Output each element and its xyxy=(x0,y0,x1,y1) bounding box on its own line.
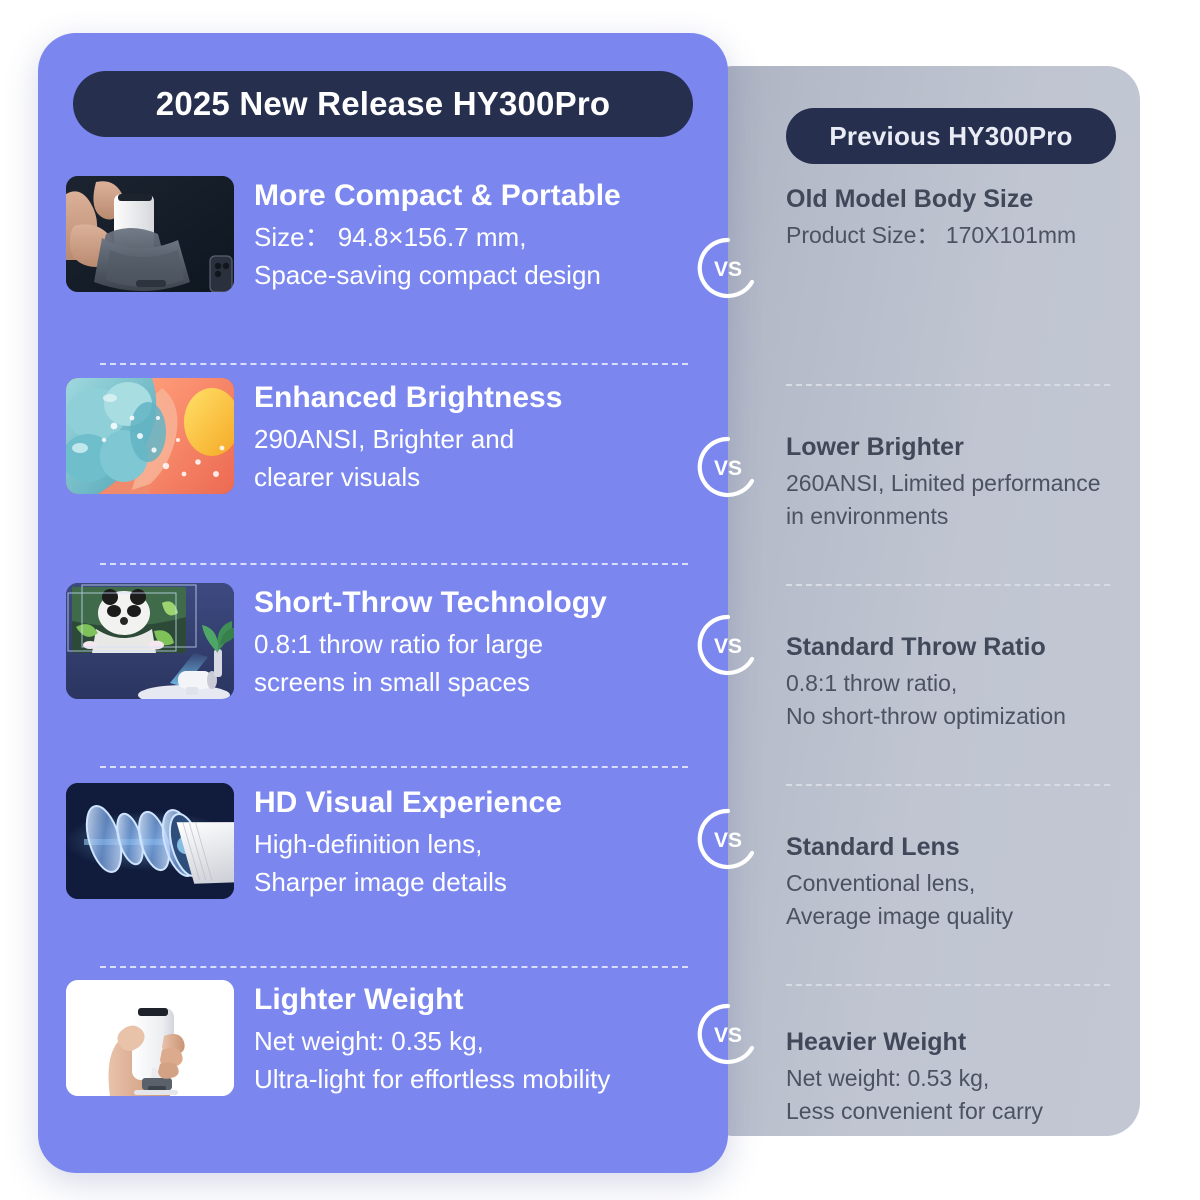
new-row-line1: Size： 94.8×156.7 mm, xyxy=(254,218,708,256)
new-row-short-throw: Short-Throw Technology 0.8:1 throw ratio… xyxy=(66,583,708,702)
previous-row-line2: in environments xyxy=(786,500,1118,533)
previous-row-title: Old Model Body Size xyxy=(786,184,1118,215)
new-row-text: HD Visual Experience High-definition len… xyxy=(254,783,708,902)
previous-divider-4 xyxy=(786,984,1110,986)
previous-row-line2: Less convenient for carry xyxy=(786,1095,1118,1128)
previous-row-line1: 260ANSI, Limited performance xyxy=(786,467,1118,500)
panda-projection-on-wall-photo xyxy=(66,583,234,699)
new-row-title: More Compact & Portable xyxy=(254,178,708,215)
vs-badge-icon-4: VS xyxy=(697,808,759,870)
previous-row-title: Lower Brighter xyxy=(786,432,1118,463)
vs-badge-label-2: VS xyxy=(714,457,742,480)
vs-badge-icon-5: VS xyxy=(697,1003,759,1065)
new-row-line1: High-definition lens, xyxy=(254,825,708,863)
exploded-lens-elements-photo xyxy=(66,783,234,899)
vs-badge-label-1: VS xyxy=(714,258,742,281)
vs-badge-label-5: VS xyxy=(714,1024,742,1047)
previous-feature-list: Old Model Body Size Product Size： 170X10… xyxy=(786,184,1118,1096)
vs-badge-icon-3: VS xyxy=(697,614,759,676)
new-divider-1 xyxy=(100,363,688,365)
new-model-badge-label: 2025 New Release HY300Pro xyxy=(156,85,610,123)
vs-badge-label-3: VS xyxy=(714,635,742,658)
new-row-line2: Space-saving compact design xyxy=(254,256,708,294)
previous-model-panel: Previous HY300Pro Old Model Body Size Pr… xyxy=(700,66,1140,1136)
new-row-title: Short-Throw Technology xyxy=(254,585,708,622)
previous-model-badge-label: Previous HY300Pro xyxy=(829,121,1072,152)
previous-row-title: Standard Lens xyxy=(786,832,1118,863)
vs-badge-icon-1: VS xyxy=(697,237,759,299)
previous-divider-3 xyxy=(786,784,1110,786)
new-row-compact-portable: More Compact & Portable Size： 94.8×156.7… xyxy=(66,176,708,295)
previous-row-brightness: Lower Brighter 260ANSI, Limited performa… xyxy=(786,432,1118,533)
new-row-brightness: Enhanced Brightness 290ANSI, Brighter an… xyxy=(66,378,708,497)
new-row-title: Enhanced Brightness xyxy=(254,380,708,417)
new-row-text: Lighter Weight Net weight: 0.35 kg, Ultr… xyxy=(254,980,708,1099)
previous-divider-1 xyxy=(786,384,1110,386)
vs-badge-label-4: VS xyxy=(714,829,742,852)
new-feature-list: More Compact & Portable Size： 94.8×156.7… xyxy=(38,158,728,1173)
new-row-line2: Sharper image details xyxy=(254,863,708,901)
previous-row-throw-ratio: Standard Throw Ratio 0.8:1 throw ratio, … xyxy=(786,632,1118,733)
new-row-line2: clearer visuals xyxy=(254,458,708,496)
previous-row-weight: Heavier Weight Net weight: 0.53 kg, Less… xyxy=(786,1027,1118,1128)
previous-row-line1: Net weight: 0.53 kg, xyxy=(786,1062,1118,1095)
projector-in-backpack-photo xyxy=(66,176,234,292)
previous-row-line1: Product Size： 170X101mm xyxy=(786,219,1118,252)
previous-divider-2 xyxy=(786,584,1110,586)
new-divider-2 xyxy=(100,563,688,565)
new-model-panel: 2025 New Release HY300Pro xyxy=(38,33,728,1173)
previous-row-title: Heavier Weight xyxy=(786,1027,1118,1058)
new-row-line1: 290ANSI, Brighter and xyxy=(254,420,708,458)
previous-row-lens: Standard Lens Conventional lens, Average… xyxy=(786,832,1118,933)
previous-row-line2: No short-throw optimization xyxy=(786,700,1118,733)
previous-row-body-size: Old Model Body Size Product Size： 170X10… xyxy=(786,184,1118,252)
previous-row-line1: Conventional lens, xyxy=(786,867,1118,900)
new-row-hd-visual: HD Visual Experience High-definition len… xyxy=(66,783,708,902)
new-divider-4 xyxy=(100,966,688,968)
previous-row-title: Standard Throw Ratio xyxy=(786,632,1118,663)
hand-holding-projector-photo xyxy=(66,980,234,1096)
new-row-text: Short-Throw Technology 0.8:1 throw ratio… xyxy=(254,583,708,702)
new-row-line1: 0.8:1 throw ratio for large xyxy=(254,625,708,663)
new-row-line2: Ultra-light for effortless mobility xyxy=(254,1060,708,1098)
new-model-badge: 2025 New Release HY300Pro xyxy=(73,71,693,137)
new-divider-3 xyxy=(100,766,688,768)
new-row-title: HD Visual Experience xyxy=(254,785,708,822)
new-row-lighter-weight: Lighter Weight Net weight: 0.35 kg, Ultr… xyxy=(66,980,708,1099)
comparison-infographic: Previous HY300Pro Old Model Body Size Pr… xyxy=(0,0,1200,1200)
new-row-title: Lighter Weight xyxy=(254,982,708,1019)
new-row-line2: screens in small spaces xyxy=(254,663,708,701)
new-row-line1: Net weight: 0.35 kg, xyxy=(254,1022,708,1060)
new-row-text: More Compact & Portable Size： 94.8×156.7… xyxy=(254,176,708,295)
previous-row-line2: Average image quality xyxy=(786,900,1118,933)
previous-model-badge: Previous HY300Pro xyxy=(786,108,1116,164)
previous-row-line1: 0.8:1 throw ratio, xyxy=(786,667,1118,700)
colorful-glossy-flowers-photo xyxy=(66,378,234,494)
new-row-text: Enhanced Brightness 290ANSI, Brighter an… xyxy=(254,378,708,497)
vs-badge-icon-2: VS xyxy=(697,436,759,498)
